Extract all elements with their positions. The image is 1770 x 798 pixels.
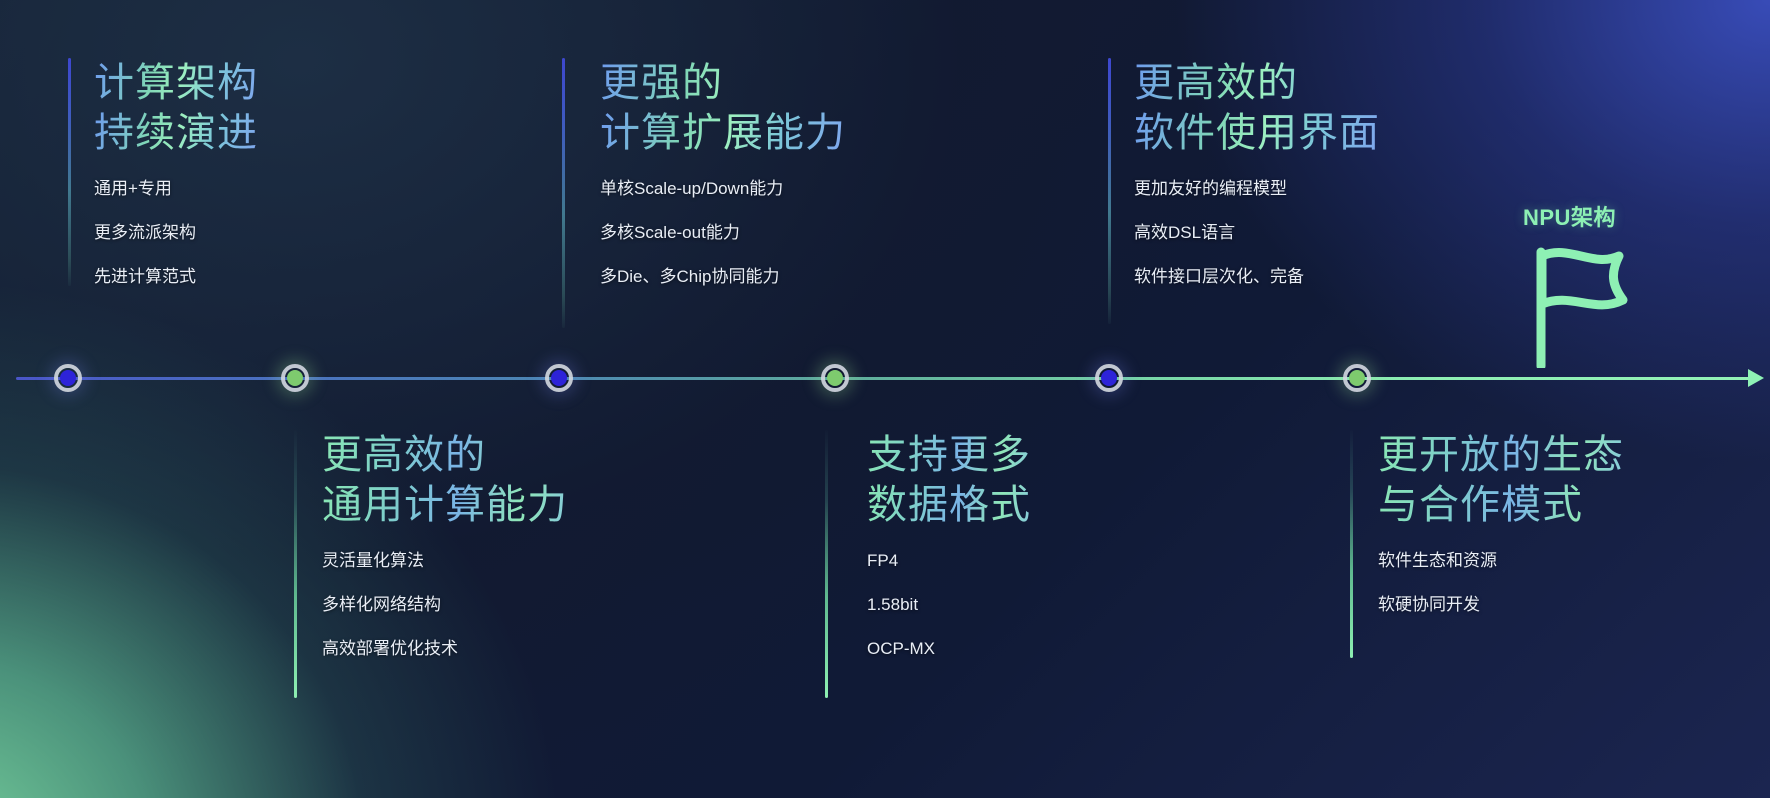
timeline-node[interactable] — [821, 364, 849, 392]
accent-bar — [1108, 58, 1111, 324]
bullet-item: 多Die、多Chip协同能力 — [600, 266, 846, 288]
card-top-2: 更强的 计算扩展能力 单核Scale-up/Down能力 多核Scale-out… — [562, 58, 846, 310]
bullet-item: 灵活量化算法 — [322, 550, 568, 572]
card-title-line2: 通用计算能力 — [322, 480, 568, 530]
bullet-item: 多样化网络结构 — [322, 594, 568, 616]
timeline-node[interactable] — [54, 364, 82, 392]
bullet-item: FP4 — [867, 550, 1031, 572]
bullet-item: 更加友好的编程模型 — [1134, 178, 1380, 200]
timeline-node[interactable] — [281, 364, 309, 392]
card-title-line2: 与合作模式 — [1378, 480, 1624, 530]
card-bullets: 软件生态和资源 软硬协同开发 — [1378, 550, 1624, 616]
accent-bar — [1350, 430, 1353, 658]
bullet-item: 多核Scale-out能力 — [600, 222, 846, 244]
card-bullets: 更加友好的编程模型 高效DSL语言 软件接口层次化、完备 — [1134, 178, 1380, 288]
bullet-item: 通用+专用 — [94, 178, 258, 200]
accent-bar — [68, 58, 71, 286]
bullet-item: 先进计算范式 — [94, 266, 258, 288]
card-title-line2: 持续演进 — [94, 108, 258, 158]
card-title-line1: 更高效的 — [322, 430, 568, 480]
flag-icon — [1531, 238, 1651, 373]
bullet-item: 高效DSL语言 — [1134, 222, 1380, 244]
bullet-item: 软件接口层次化、完备 — [1134, 266, 1380, 288]
accent-bar — [825, 430, 828, 698]
slide-canvas: 计算架构 持续演进 通用+专用 更多流派架构 先进计算范式 更强的 计算扩展能力… — [0, 0, 1770, 798]
accent-bar — [562, 58, 565, 328]
card-bullets: 通用+专用 更多流派架构 先进计算范式 — [94, 178, 258, 288]
card-title-line2: 计算扩展能力 — [600, 108, 846, 158]
timeline-node[interactable] — [545, 364, 573, 392]
milestone-label: NPU架构 — [1523, 200, 1616, 232]
card-bullets: FP4 1.58bit OCP-MX — [867, 550, 1031, 660]
timeline-node[interactable] — [1343, 364, 1371, 392]
card-bullets: 单核Scale-up/Down能力 多核Scale-out能力 多Die、多Ch… — [600, 178, 846, 288]
card-title-line2: 数据格式 — [867, 480, 1031, 530]
bullet-item: OCP-MX — [867, 638, 1031, 660]
accent-bar — [294, 430, 297, 698]
card-title-line1: 更强的 — [600, 58, 846, 108]
timeline-axis — [16, 377, 1756, 380]
card-title-line2: 软件使用界面 — [1134, 108, 1380, 158]
timeline-node[interactable] — [1095, 364, 1123, 392]
bullet-item: 软硬协同开发 — [1378, 594, 1624, 616]
bullet-item: 1.58bit — [867, 594, 1031, 616]
bullet-item: 更多流派架构 — [94, 222, 258, 244]
bullet-item: 单核Scale-up/Down能力 — [600, 178, 846, 200]
card-title-line1: 计算架构 — [94, 58, 258, 108]
card-bottom-2: 支持更多 数据格式 FP4 1.58bit OCP-MX — [825, 430, 1031, 682]
card-title-line1: 更高效的 — [1134, 58, 1380, 108]
card-title-line1: 支持更多 — [867, 430, 1031, 480]
bullet-item: 软件生态和资源 — [1378, 550, 1624, 572]
arrow-right-icon — [1748, 369, 1764, 387]
card-top-3: 更高效的 软件使用界面 更加友好的编程模型 高效DSL语言 软件接口层次化、完备 — [1108, 58, 1380, 310]
bullet-item: 高效部署优化技术 — [322, 638, 568, 660]
card-top-1: 计算架构 持续演进 通用+专用 更多流派架构 先进计算范式 — [68, 58, 258, 310]
card-bottom-1: 更高效的 通用计算能力 灵活量化算法 多样化网络结构 高效部署优化技术 — [294, 430, 568, 682]
card-bottom-3: 更开放的生态 与合作模式 软件生态和资源 软硬协同开发 — [1350, 430, 1624, 638]
card-title-line1: 更开放的生态 — [1378, 430, 1624, 480]
card-bullets: 灵活量化算法 多样化网络结构 高效部署优化技术 — [322, 550, 568, 660]
milestone-marker: NPU架构 — [1523, 200, 1616, 232]
